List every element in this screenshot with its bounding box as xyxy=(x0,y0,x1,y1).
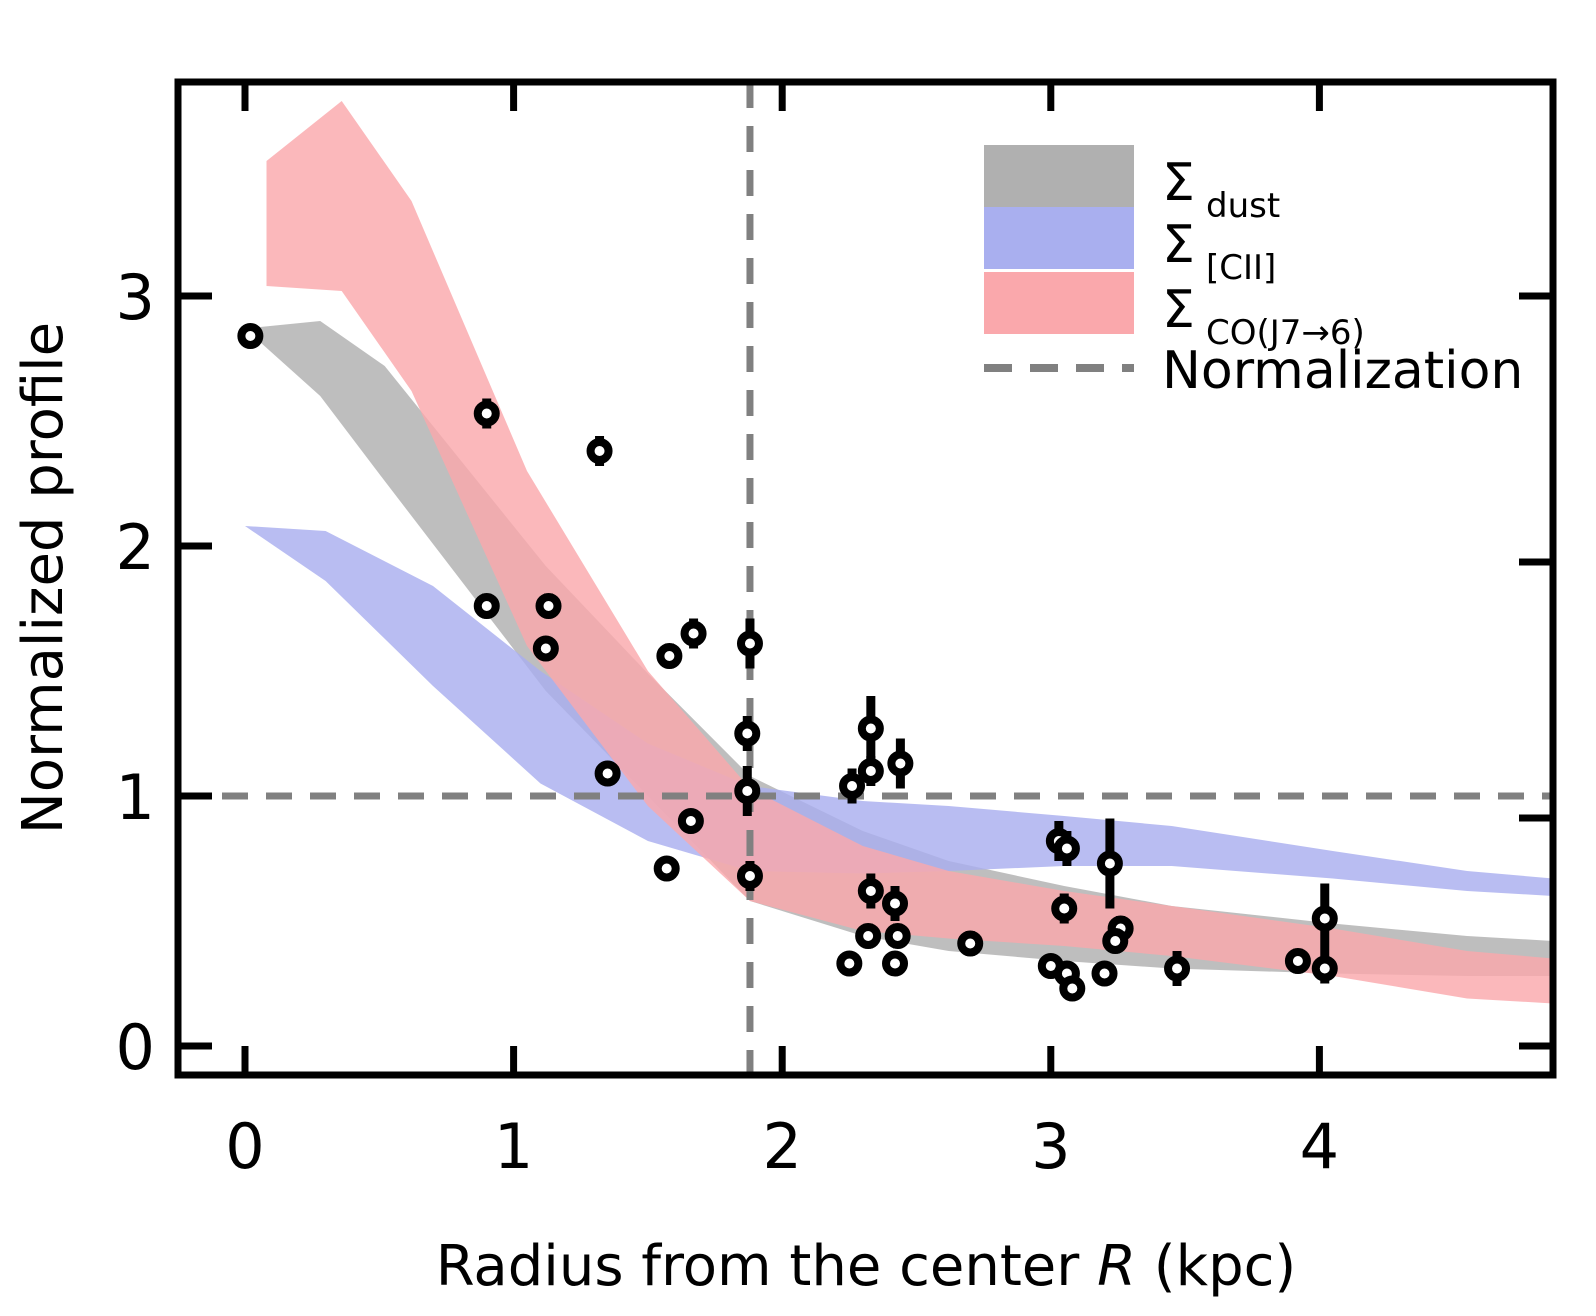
data-point xyxy=(685,619,703,649)
y-tick-label: 0 xyxy=(116,1011,155,1084)
data-point xyxy=(840,955,858,973)
data-point xyxy=(859,924,877,949)
data-point xyxy=(862,756,880,786)
data-point xyxy=(591,436,609,466)
data-point xyxy=(537,639,555,659)
data-point xyxy=(741,861,759,891)
x-axis-label: Radius from the center R (kpc) xyxy=(436,1234,1297,1299)
normalized-radial-profile-chart: 012340123 Radius from the center R (kpc)… xyxy=(0,0,1596,1316)
data-point xyxy=(961,931,979,956)
data-point xyxy=(1106,929,1124,954)
data-point xyxy=(1096,965,1114,983)
x-tick-label: 2 xyxy=(762,1110,801,1183)
y-axis-label: Normalized profile xyxy=(11,322,76,834)
legend-swatch-2 xyxy=(984,272,1134,334)
legend-swatch-1 xyxy=(984,207,1134,269)
chart-figure: 012340123 Radius from the center R (kpc)… xyxy=(0,0,1596,1316)
legend-label-2: Σ xyxy=(1162,280,1195,340)
y-tick-label: 3 xyxy=(116,261,155,334)
legend-label-normalization: Normalization xyxy=(1162,341,1523,401)
data-point xyxy=(1063,980,1081,998)
data-point xyxy=(658,860,676,878)
data-point xyxy=(1055,894,1073,924)
data-point xyxy=(889,924,907,949)
data-point xyxy=(1289,949,1307,974)
legend-swatch-0 xyxy=(984,145,1134,207)
y-tick-label: 2 xyxy=(116,511,155,584)
legend-sublabel-1: [CII] xyxy=(1206,248,1276,288)
x-tick-label: 0 xyxy=(225,1110,264,1183)
data-point xyxy=(682,811,700,831)
data-point xyxy=(1316,954,1334,984)
data-point xyxy=(660,644,678,669)
x-tick-label: 1 xyxy=(494,1110,533,1183)
legend-sublabel-0: dust xyxy=(1206,186,1280,226)
y-tick-label: 1 xyxy=(116,761,155,834)
legend-label-1: Σ xyxy=(1162,215,1195,275)
data-point xyxy=(478,594,496,619)
data-point xyxy=(886,955,904,973)
legend-label-0: Σ xyxy=(1162,153,1195,213)
x-tick-label: 3 xyxy=(1031,1110,1070,1183)
data-point xyxy=(599,765,617,783)
data-point xyxy=(478,399,496,429)
x-tick-label: 4 xyxy=(1300,1110,1339,1183)
data-point xyxy=(241,327,259,345)
data-point xyxy=(540,594,558,619)
